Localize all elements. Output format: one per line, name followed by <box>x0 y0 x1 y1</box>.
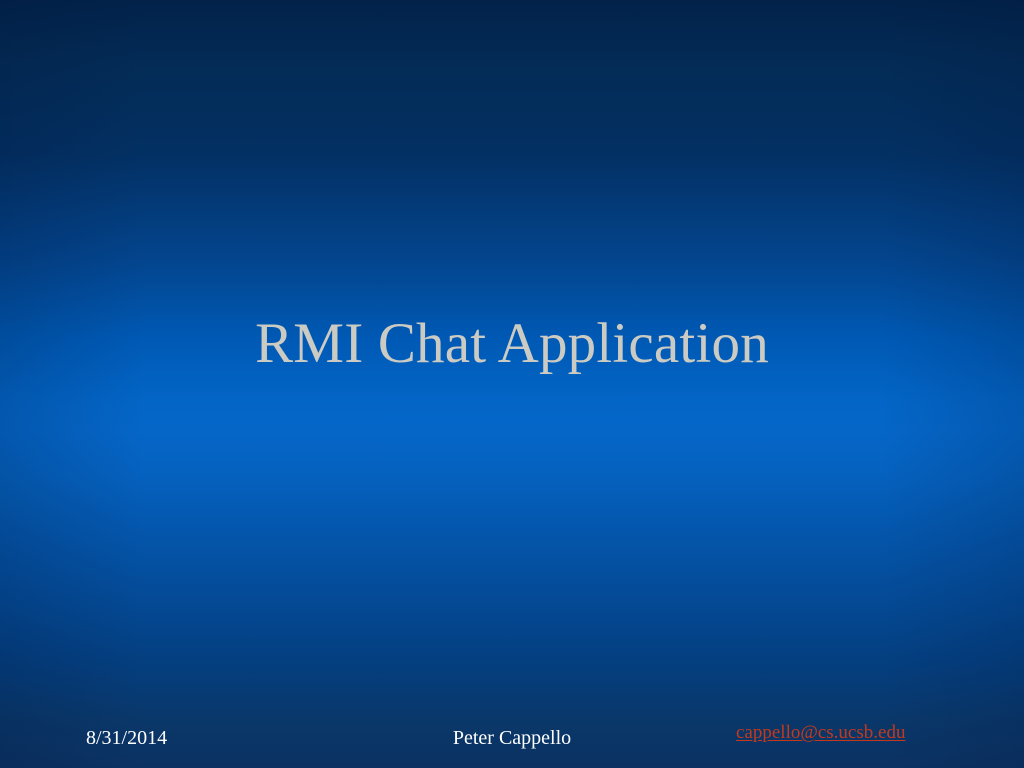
slide-footer: 8/31/2014 Peter Cappello cappello@cs.ucs… <box>0 698 1024 768</box>
page-title: RMI Chat Application <box>255 314 769 374</box>
slide-title-block: RMI Chat Application <box>0 276 1024 412</box>
presentation-slide: RMI Chat Application 8/31/2014 Peter Cap… <box>0 0 1024 768</box>
footer-email-link[interactable]: cappello@cs.ucsb.edu <box>736 723 905 742</box>
